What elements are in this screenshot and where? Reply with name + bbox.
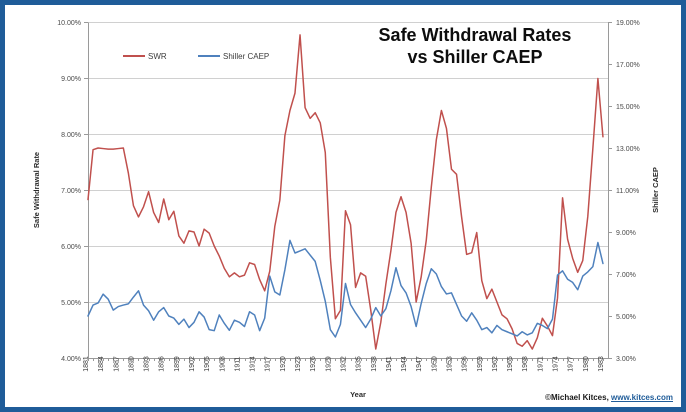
chart-figure-frame: 1881188418871890189318961899190219051908… [0, 0, 686, 412]
x-axis-tick-label: 1962 [492, 356, 499, 372]
y2-axis-tick-label: 15.00% [616, 104, 640, 111]
x-axis-tick-label: 1914 [250, 356, 257, 372]
x-axis-tick-label: 1896 [159, 356, 166, 372]
legend-label-shiller-caep: Shiller CAEP [223, 52, 269, 61]
copyright-credit: ©Michael Kitces, www.kitces.com [545, 393, 673, 402]
x-axis-tick-label: 1944 [401, 356, 408, 372]
y2-axis-tick-label: 7.00% [616, 272, 636, 279]
x-axis-tick-label: 1950 [431, 356, 438, 372]
chart-canvas: 1881188418871890189318961899190219051908… [5, 5, 681, 407]
x-axis-tick-label: 1887 [113, 356, 120, 372]
x-axis-tick-label: 1935 [356, 356, 363, 372]
x-axis-tick-label: 1884 [98, 356, 105, 372]
x-axis-tick-label: 1899 [174, 356, 181, 372]
legend-label-swr: SWR [148, 52, 167, 61]
y-axis-tick-label: 8.00% [61, 132, 81, 139]
x-axis-tick-label: 1911 [235, 356, 242, 371]
series-line-swr [88, 35, 603, 349]
x-axis-tick-label: 1926 [310, 356, 317, 372]
x-axis-tick-label: 1893 [144, 356, 151, 372]
x-axis-tick-label: 1974 [553, 356, 560, 372]
y2-axis-tick-label: 11.00% [616, 188, 639, 195]
credit-author: Michael Kitces, [551, 393, 609, 402]
x-axis-tick-label: 1938 [371, 356, 378, 372]
x-axis-tick-label: 1953 [447, 356, 454, 372]
x-axis-tick-label: 1920 [280, 356, 287, 372]
y2-axis-tick-label: 9.00% [616, 230, 636, 237]
x-axis-tick-label: 1890 [128, 356, 135, 372]
x-axis-tick-label: 1971 [537, 356, 544, 372]
x-axis-tick-label: 1959 [477, 356, 484, 372]
x-axis-tick-label: 1968 [522, 356, 529, 372]
y2-axis-tick-label: 13.00% [616, 146, 640, 153]
x-axis-tick-label: 1923 [295, 356, 302, 372]
gridlines-group [88, 23, 608, 359]
series-line-shiller-caep [88, 240, 603, 337]
y-axis-title: Safe Withdrawal Rate [32, 152, 41, 228]
x-axis-tick-label: 1905 [204, 356, 211, 372]
chart-title: Safe Withdrawal Ratesvs Shiller CAEP [379, 25, 572, 67]
x-axis-tick-label: 1980 [583, 356, 590, 372]
x-axis-ticks-group: 1881188418871890189318961899190219051908… [83, 356, 605, 372]
x-axis-tick-label: 1983 [598, 356, 605, 372]
credit-url-link[interactable]: www.kitces.com [611, 393, 673, 402]
x-axis-tick-label: 1917 [265, 356, 272, 372]
y-axis-tick-label: 5.00% [61, 300, 81, 307]
safe-withdrawal-rates-line-chart: 1881188418871890189318961899190219051908… [5, 5, 681, 407]
x-axis-tick-label: 1902 [189, 356, 196, 372]
y2-axis-tick-label: 5.00% [616, 314, 636, 321]
y-axis-left-ticks-group: 4.00%5.00%6.00%7.00%8.00%9.00%10.00% [57, 20, 88, 363]
y-axis-tick-label: 7.00% [61, 188, 81, 195]
x-axis-tick-label: 1977 [568, 356, 575, 372]
x-axis-tick-label: 1929 [325, 356, 332, 372]
x-axis-tick-label: 1908 [219, 356, 226, 372]
x-axis-tick-label: 1947 [416, 356, 423, 372]
chart-legend: SWRShiller CAEP [123, 52, 269, 61]
x-axis-tick-label: 1941 [386, 356, 393, 372]
y-axis-tick-label: 10.00% [57, 20, 81, 27]
y2-axis-tick-label: 19.00% [616, 20, 640, 27]
y-axis-tick-label: 6.00% [61, 244, 81, 251]
y2-axis-tick-label: 3.00% [616, 356, 636, 363]
chart-title-line-2: vs Shiller CAEP [407, 47, 542, 67]
y2-axis-tick-label: 17.00% [616, 62, 640, 69]
y-axis-tick-label: 4.00% [61, 356, 81, 363]
x-axis-title: Year [350, 390, 366, 399]
y-axis-right-ticks-group: 3.00%5.00%7.00%9.00%11.00%13.00%15.00%17… [608, 20, 640, 363]
y-axis-tick-label: 9.00% [61, 76, 81, 83]
data-series-group [88, 35, 603, 349]
x-axis-tick-label: 1932 [341, 356, 348, 372]
y2-axis-title: Shiller CAEP [651, 167, 660, 213]
x-axis-tick-label: 1965 [507, 356, 514, 372]
x-axis-tick-label: 1956 [462, 356, 469, 372]
chart-title-line-1: Safe Withdrawal Rates [379, 25, 572, 45]
